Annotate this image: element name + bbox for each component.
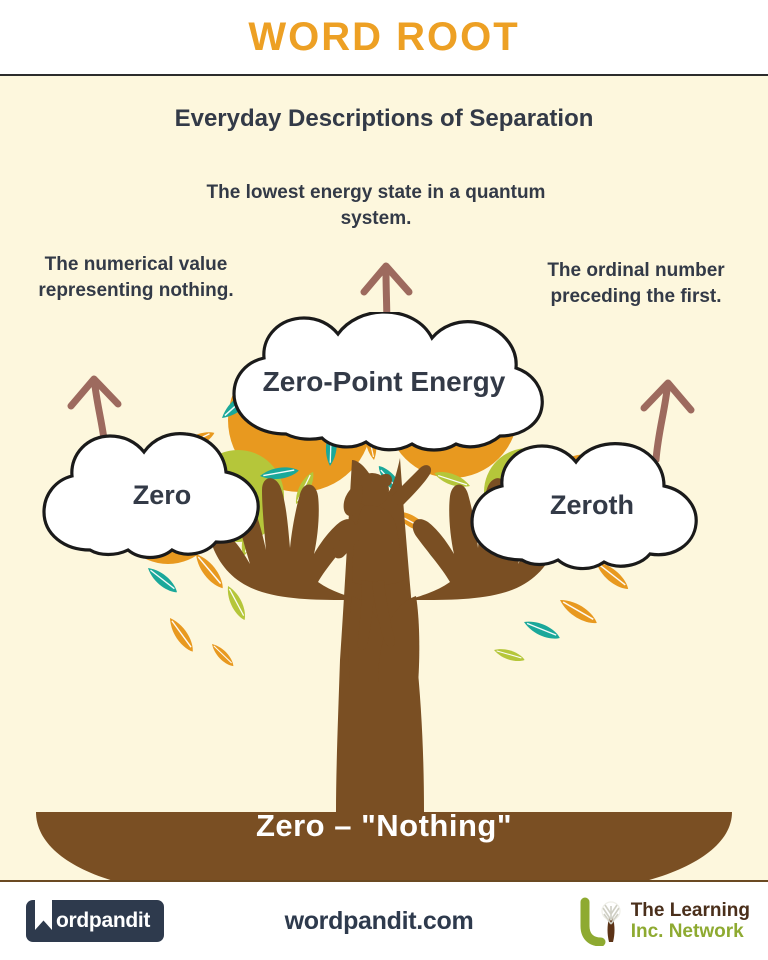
footer-website-url[interactable]: wordpandit.com [210, 907, 548, 936]
root-word-label: Zero – "Nothing" [0, 808, 768, 844]
footer-band: ordpandit wordpandit.com The Learning [0, 880, 768, 960]
cloud-shape-left-icon [28, 430, 296, 566]
header-band: WORD ROOT [0, 0, 768, 76]
callout-top: The lowest energy state in a quantum sys… [196, 180, 556, 231]
partner-line-2: Inc. Network [631, 921, 750, 942]
cloud-shape-right-icon [452, 438, 732, 574]
cloud-bubble-zero[interactable]: Zero [28, 430, 296, 566]
infographic-poster: WORD ROOT Everyday Descriptions of Separ… [0, 0, 768, 960]
page-title: WORD ROOT [248, 15, 519, 60]
callout-left: The numerical value representing nothing… [10, 252, 262, 303]
learning-network-tree-icon [579, 896, 625, 946]
bookmark-icon [35, 896, 52, 930]
wordpandit-logo-text: ordpandit [56, 909, 150, 933]
footer-partner-logo[interactable]: The Learning Inc. Network [548, 896, 768, 946]
cloud-bubble-zeroth[interactable]: Zeroth [452, 438, 732, 574]
footer-brand-logo[interactable]: ordpandit [0, 900, 210, 942]
subtitle: Everyday Descriptions of Separation [0, 105, 768, 133]
partner-line-1: The Learning [631, 900, 750, 921]
wordpandit-logo[interactable]: ordpandit [26, 900, 164, 942]
partner-name: The Learning Inc. Network [631, 900, 750, 943]
